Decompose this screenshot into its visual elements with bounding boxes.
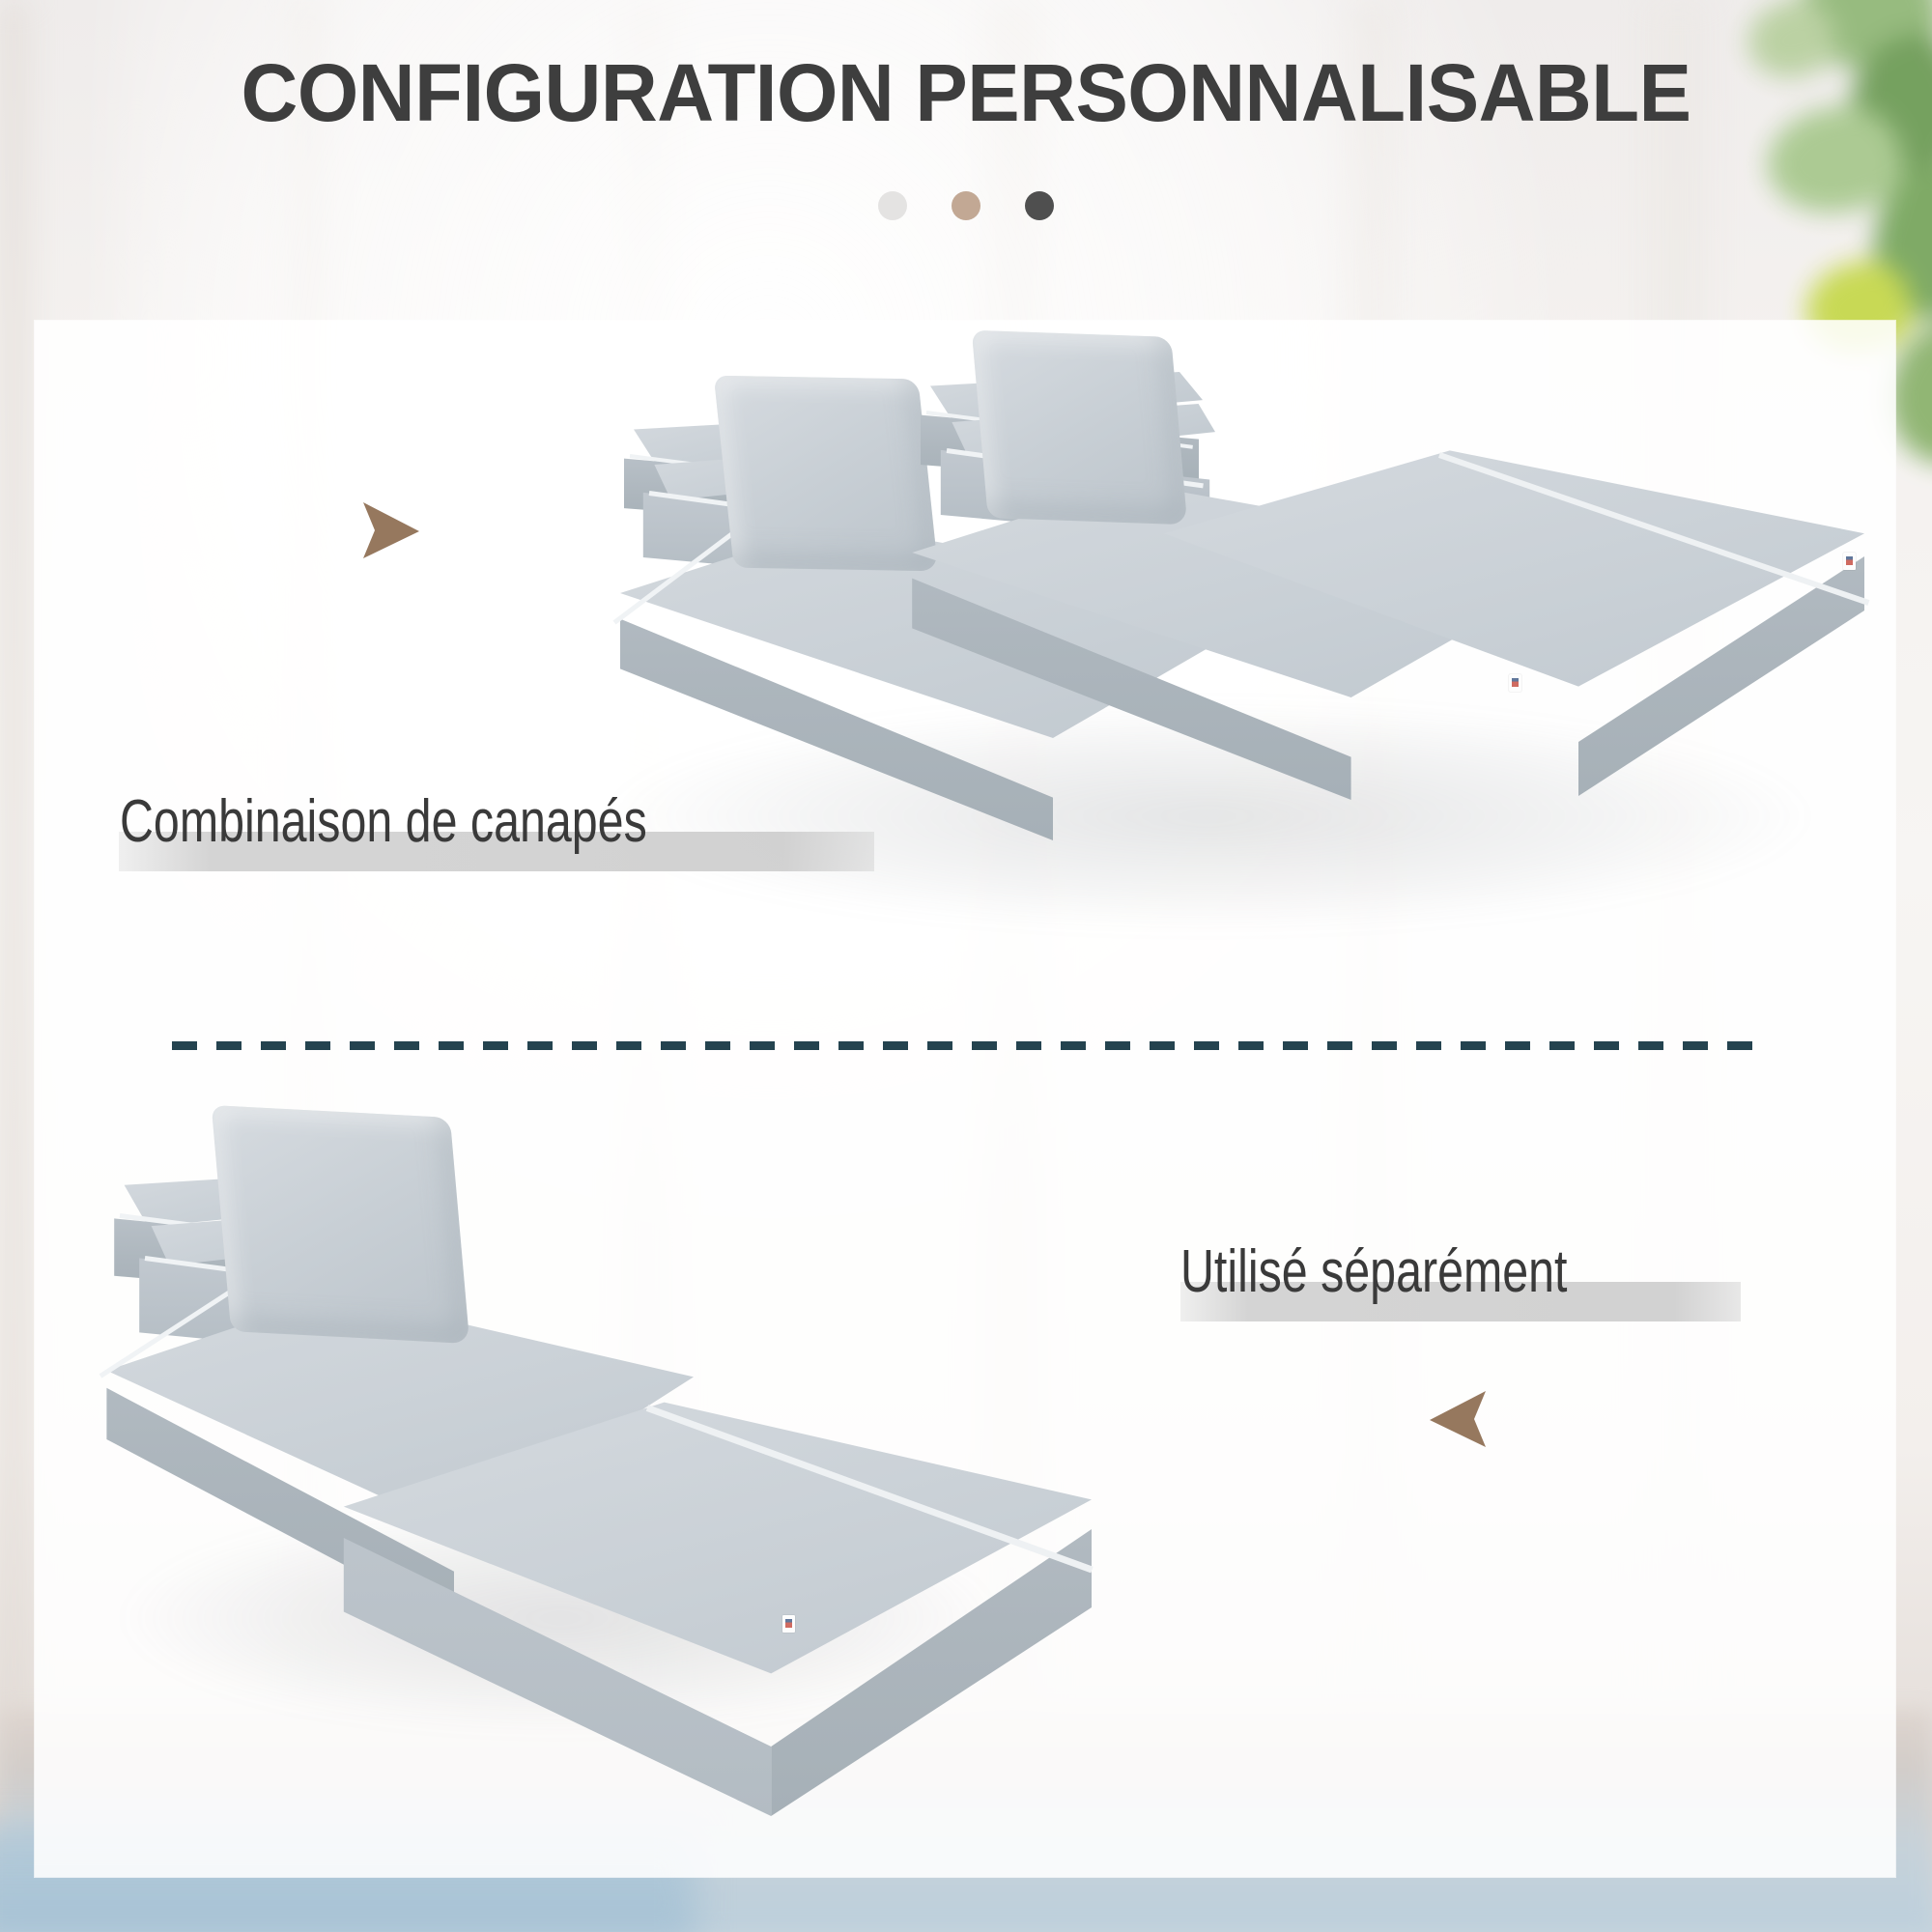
label-combination: Combinaison de canapés [120, 792, 949, 852]
page-title: CONFIGURATION PERSONNALISABLE [29, 46, 1903, 140]
color-swatch-row [0, 191, 1932, 220]
single-sofa-extension [328, 1381, 1111, 1835]
product-feature-image: CONFIGURATION PERSONNALISABLE [0, 0, 1932, 1932]
color-swatch-white[interactable] [878, 191, 907, 220]
arrow-left-separate [1428, 1389, 1490, 1449]
section-divider [172, 1041, 1756, 1050]
arrow-right-combination [359, 500, 421, 560]
brand-tag [1509, 674, 1521, 692]
color-swatch-dark-grey[interactable] [1025, 191, 1054, 220]
brand-tag [782, 1615, 795, 1633]
arrow-left-icon [1428, 1389, 1490, 1449]
sofa-right-extension [1150, 425, 1884, 831]
label-separate: Utilisé séparément [1180, 1242, 1776, 1302]
single-sofa-pillow [212, 1105, 470, 1344]
color-swatch-beige[interactable] [952, 191, 980, 220]
arrow-right-icon [359, 500, 421, 560]
brand-tag [1843, 553, 1856, 570]
product-image-separate [87, 1121, 1053, 1719]
